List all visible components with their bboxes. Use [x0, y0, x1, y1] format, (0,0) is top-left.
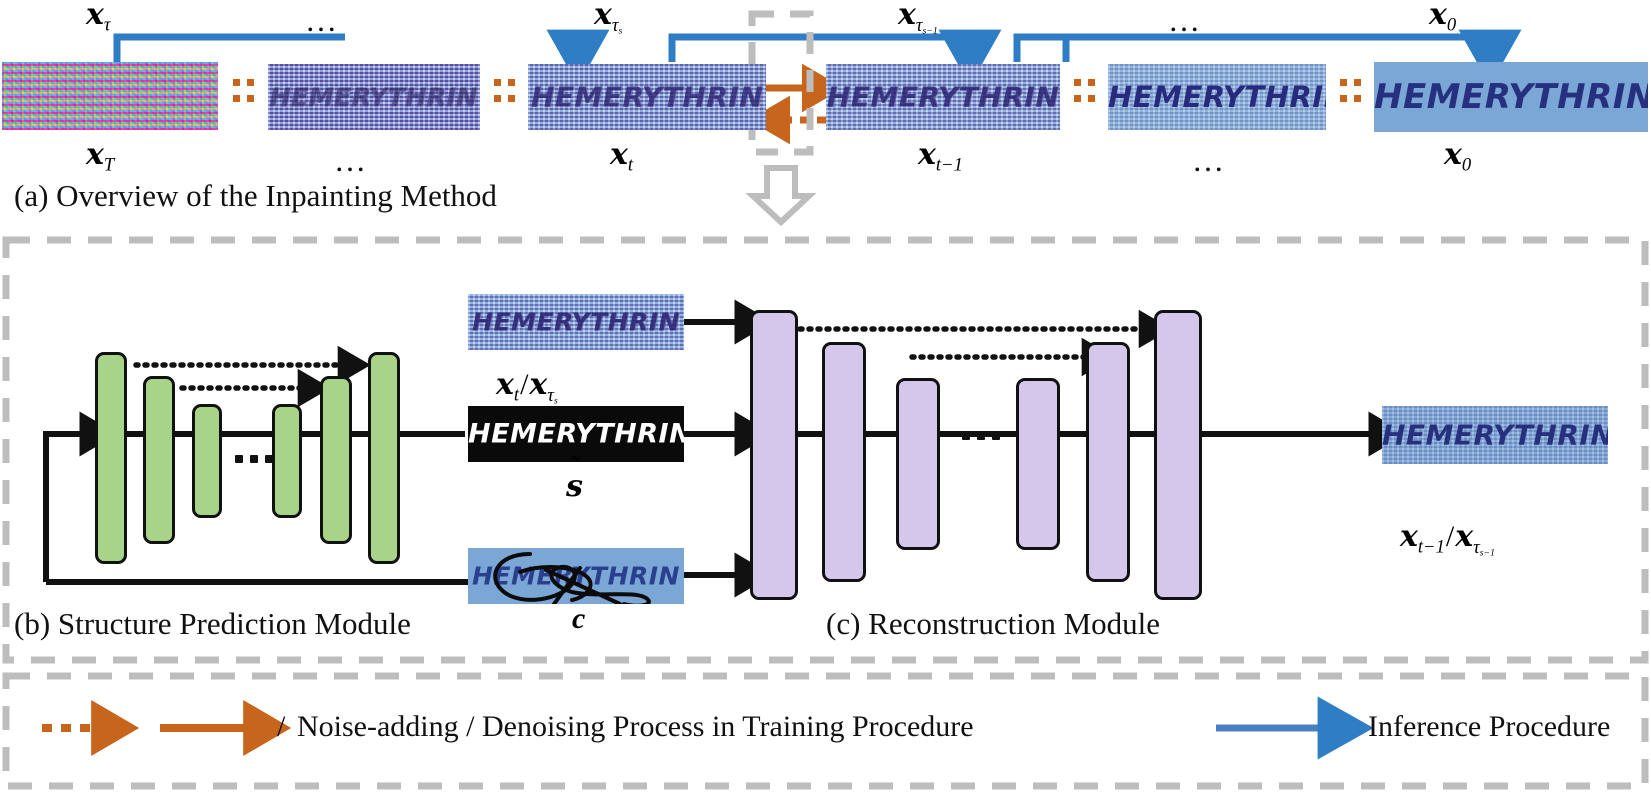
separator-dots-3 — [1074, 79, 1095, 102]
spm-ellipsis — [235, 455, 273, 463]
tile-xt: HEMERYTHRIN — [528, 64, 766, 130]
output-word: HEMERYTHRIN — [1382, 419, 1608, 452]
label-output: xt−1/xτs−1 — [1400, 522, 1495, 558]
label-x-T: xT — [86, 140, 114, 175]
label-x-tau: xτ — [86, 0, 111, 35]
inference-arrow-2 — [560, 37, 578, 52]
recon-block-2 — [822, 342, 866, 582]
recon-block-1 — [750, 310, 798, 600]
spm-block-1 — [95, 352, 127, 564]
legend-inference-label: Inference Procedure — [1368, 710, 1610, 744]
bottom-ellipsis-2: … — [1192, 142, 1226, 179]
panel-c-caption: (c) Reconstruction Module — [826, 606, 1160, 642]
label-x-t: xt — [610, 140, 633, 175]
panel-b-caption: (b) Structure Prediction Module — [14, 606, 411, 642]
spm-input-line — [46, 434, 95, 582]
recon-block-6 — [1154, 310, 1202, 600]
top-ellipsis-2: … — [1168, 2, 1202, 39]
label-structure: s˜ — [566, 472, 583, 502]
tile-mid2: HEMERYTHRIN — [1108, 64, 1326, 130]
spm-block-6 — [368, 352, 400, 564]
condition-image: HEMERYTHRIN — [468, 548, 684, 604]
label-x-tau-s: xτs — [594, 0, 622, 36]
spm-block-3 — [192, 404, 222, 518]
recon-block-5 — [1086, 342, 1130, 582]
structure-word: HEMERYTHRIN — [468, 419, 684, 450]
noise-texture — [2, 62, 218, 130]
bottom-ellipsis-1: … — [334, 142, 368, 179]
label-condition: c — [572, 604, 585, 634]
tile-word: HEMERYTHRIN — [268, 83, 480, 112]
top-ellipsis-1: … — [305, 2, 339, 39]
inference-arrow-3 — [672, 37, 970, 62]
noisy-input-word: HEMERYTHRIN — [468, 308, 684, 337]
tile-mid1: HEMERYTHRIN — [268, 64, 480, 130]
legend-separator: / — [277, 710, 285, 744]
scribble-mask — [468, 548, 684, 604]
expand-down-arrow — [753, 168, 809, 222]
recon-ellipsis — [962, 432, 1000, 440]
tile-xT — [2, 62, 218, 130]
inference-arrow-5 — [1066, 37, 1490, 62]
label-x-tau-s-1: xτs−1 — [898, 0, 938, 36]
label-noisy-input: xt/xτs — [496, 370, 558, 406]
figure-root: { "figure": { "panel_a_caption": "(a) Ov… — [0, 0, 1651, 793]
recon-block-4 — [1016, 378, 1060, 550]
spm-block-2 — [143, 376, 175, 544]
label-x-0-bottom: x0 — [1444, 140, 1471, 175]
tile-x0: HEMERYTHRIN — [1374, 62, 1648, 132]
legend-training-label: Noise-adding / Denoising Process in Trai… — [297, 710, 974, 744]
recon-block-3 — [896, 378, 940, 550]
spm-block-5 — [320, 376, 352, 544]
label-x-t-1: xt−1 — [918, 140, 963, 175]
noisy-input-image: HEMERYTHRIN — [468, 294, 684, 350]
separator-dots-4 — [1340, 79, 1361, 102]
separator-dots-1 — [233, 79, 254, 102]
tile-word: HEMERYTHRIN — [1374, 77, 1648, 117]
output-image: HEMERYTHRIN — [1382, 406, 1608, 464]
inference-arrow-1 — [117, 37, 345, 62]
tile-word: HEMERYTHRIN — [1108, 80, 1326, 114]
separator-dots-2 — [494, 79, 515, 102]
spm-block-4 — [272, 404, 302, 518]
tile-word: HEMERYTHRIN — [826, 81, 1060, 114]
label-x-0-top: x0 — [1429, 0, 1456, 35]
tile-xt-1: HEMERYTHRIN — [826, 64, 1060, 130]
panel-a-caption: (a) Overview of the Inpainting Method — [14, 178, 497, 214]
tile-word: HEMERYTHRIN — [528, 81, 766, 114]
